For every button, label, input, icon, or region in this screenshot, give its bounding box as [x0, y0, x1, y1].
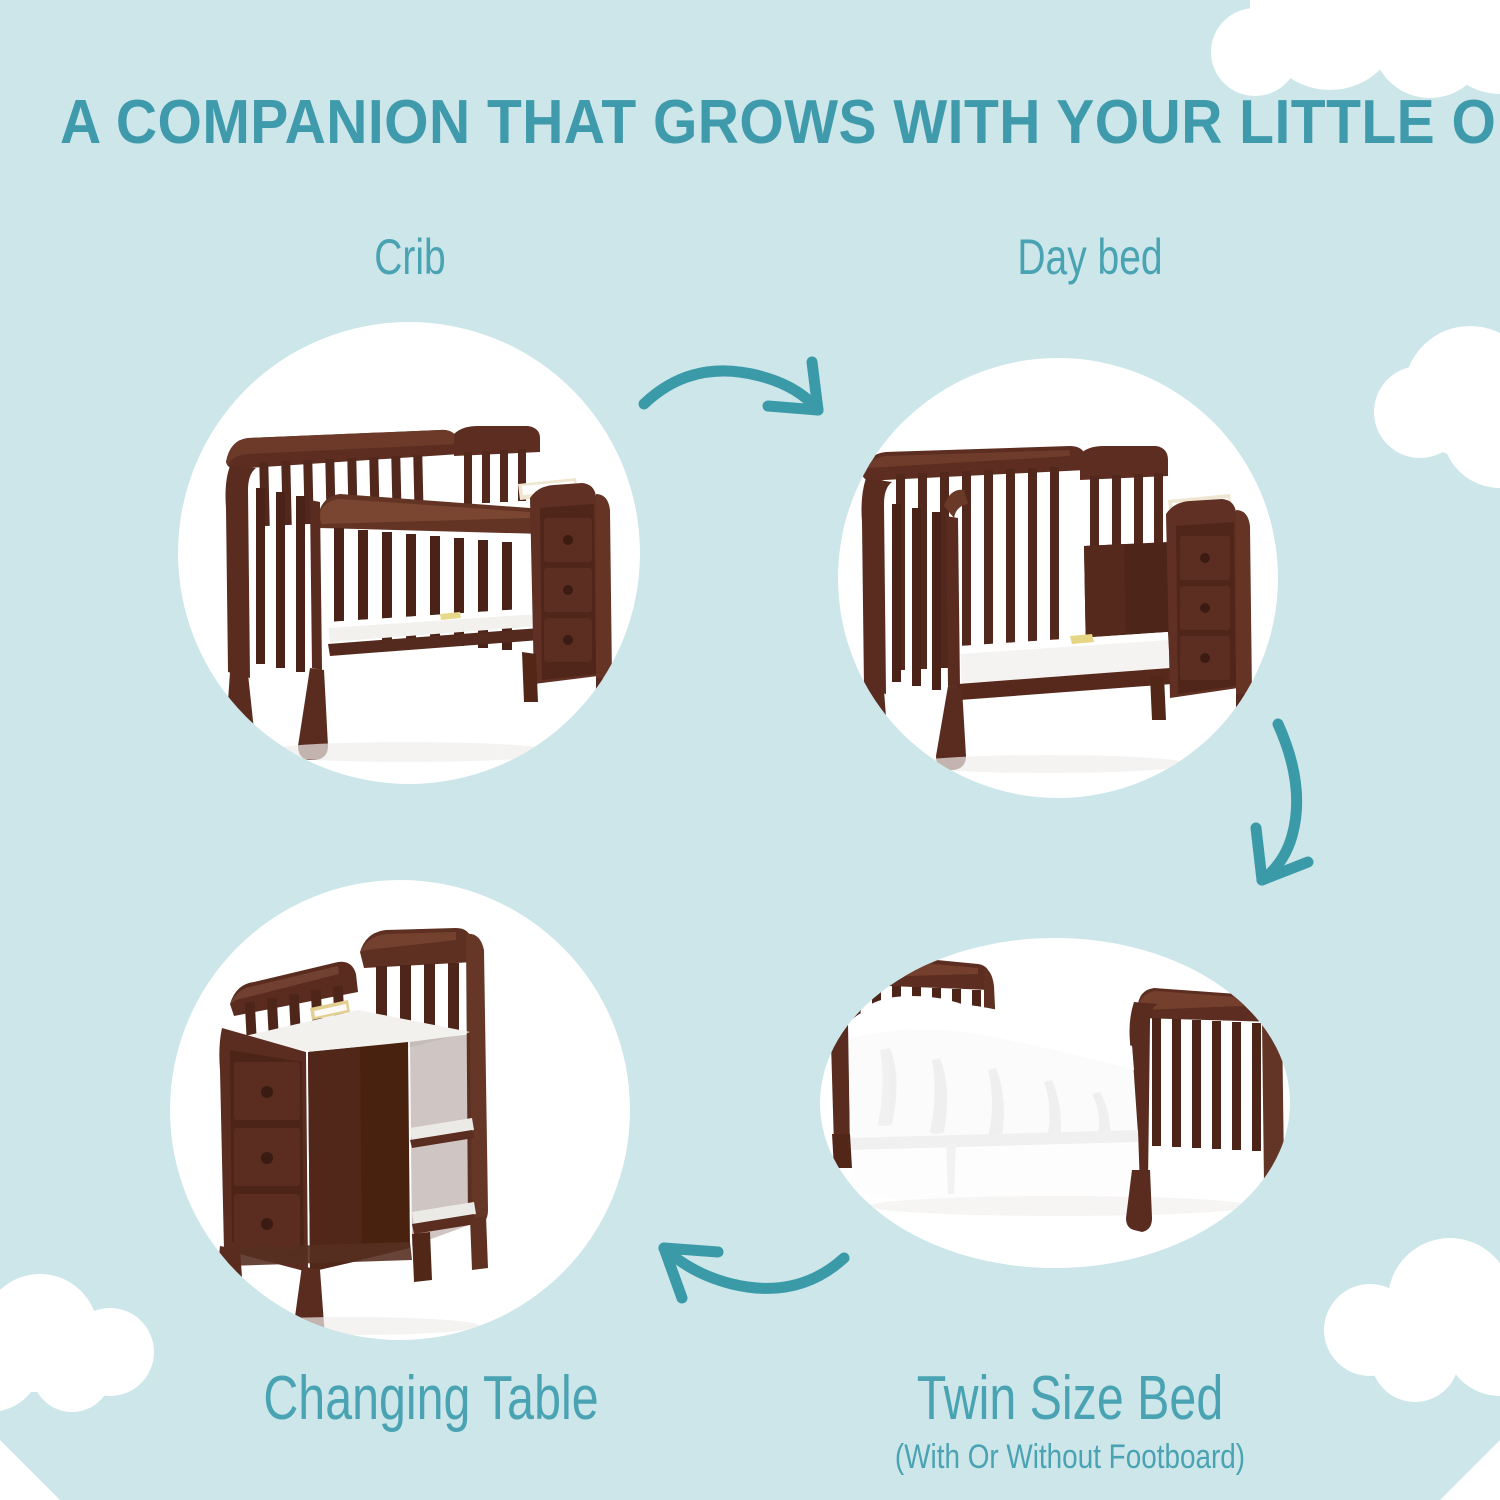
cloud-right-edge [1374, 326, 1500, 488]
arrow-twin-to-changing [622, 1212, 862, 1332]
stage-label-crib: Crib [90, 232, 730, 282]
page-title: A COMPANION THAT GROWS WITH YOUR LITTLE … [60, 92, 1440, 154]
infographic-canvas: A COMPANION THAT GROWS WITH YOUR LITTLE … [0, 0, 1500, 1500]
arrow-crib-to-daybed [636, 340, 866, 450]
crib-illustration [178, 322, 640, 784]
stage-sublabel-twin-size-bed: (With Or Without Footboard) [717, 1440, 1422, 1474]
corner-cut-bottom-right [1440, 1440, 1500, 1500]
product-photo-twin-bed [820, 938, 1290, 1268]
stage-label-changing-table: Changing Table [95, 1368, 767, 1430]
product-photo-changing-table [170, 880, 630, 1340]
arrow-daybed-to-twin [1196, 712, 1346, 912]
twin-bed-illustration [820, 938, 1290, 1268]
stage-label-daybed: Day bed [770, 232, 1410, 282]
corner-cut-bottom-left [0, 1440, 60, 1500]
changing-table-illustration [170, 880, 630, 1340]
stage-label-twin-size-bed: Twin Size Bed [735, 1368, 1406, 1430]
product-photo-crib [178, 322, 640, 784]
corner-cut-top-right [1440, 0, 1500, 60]
cloud-top-right [1211, 0, 1500, 98]
